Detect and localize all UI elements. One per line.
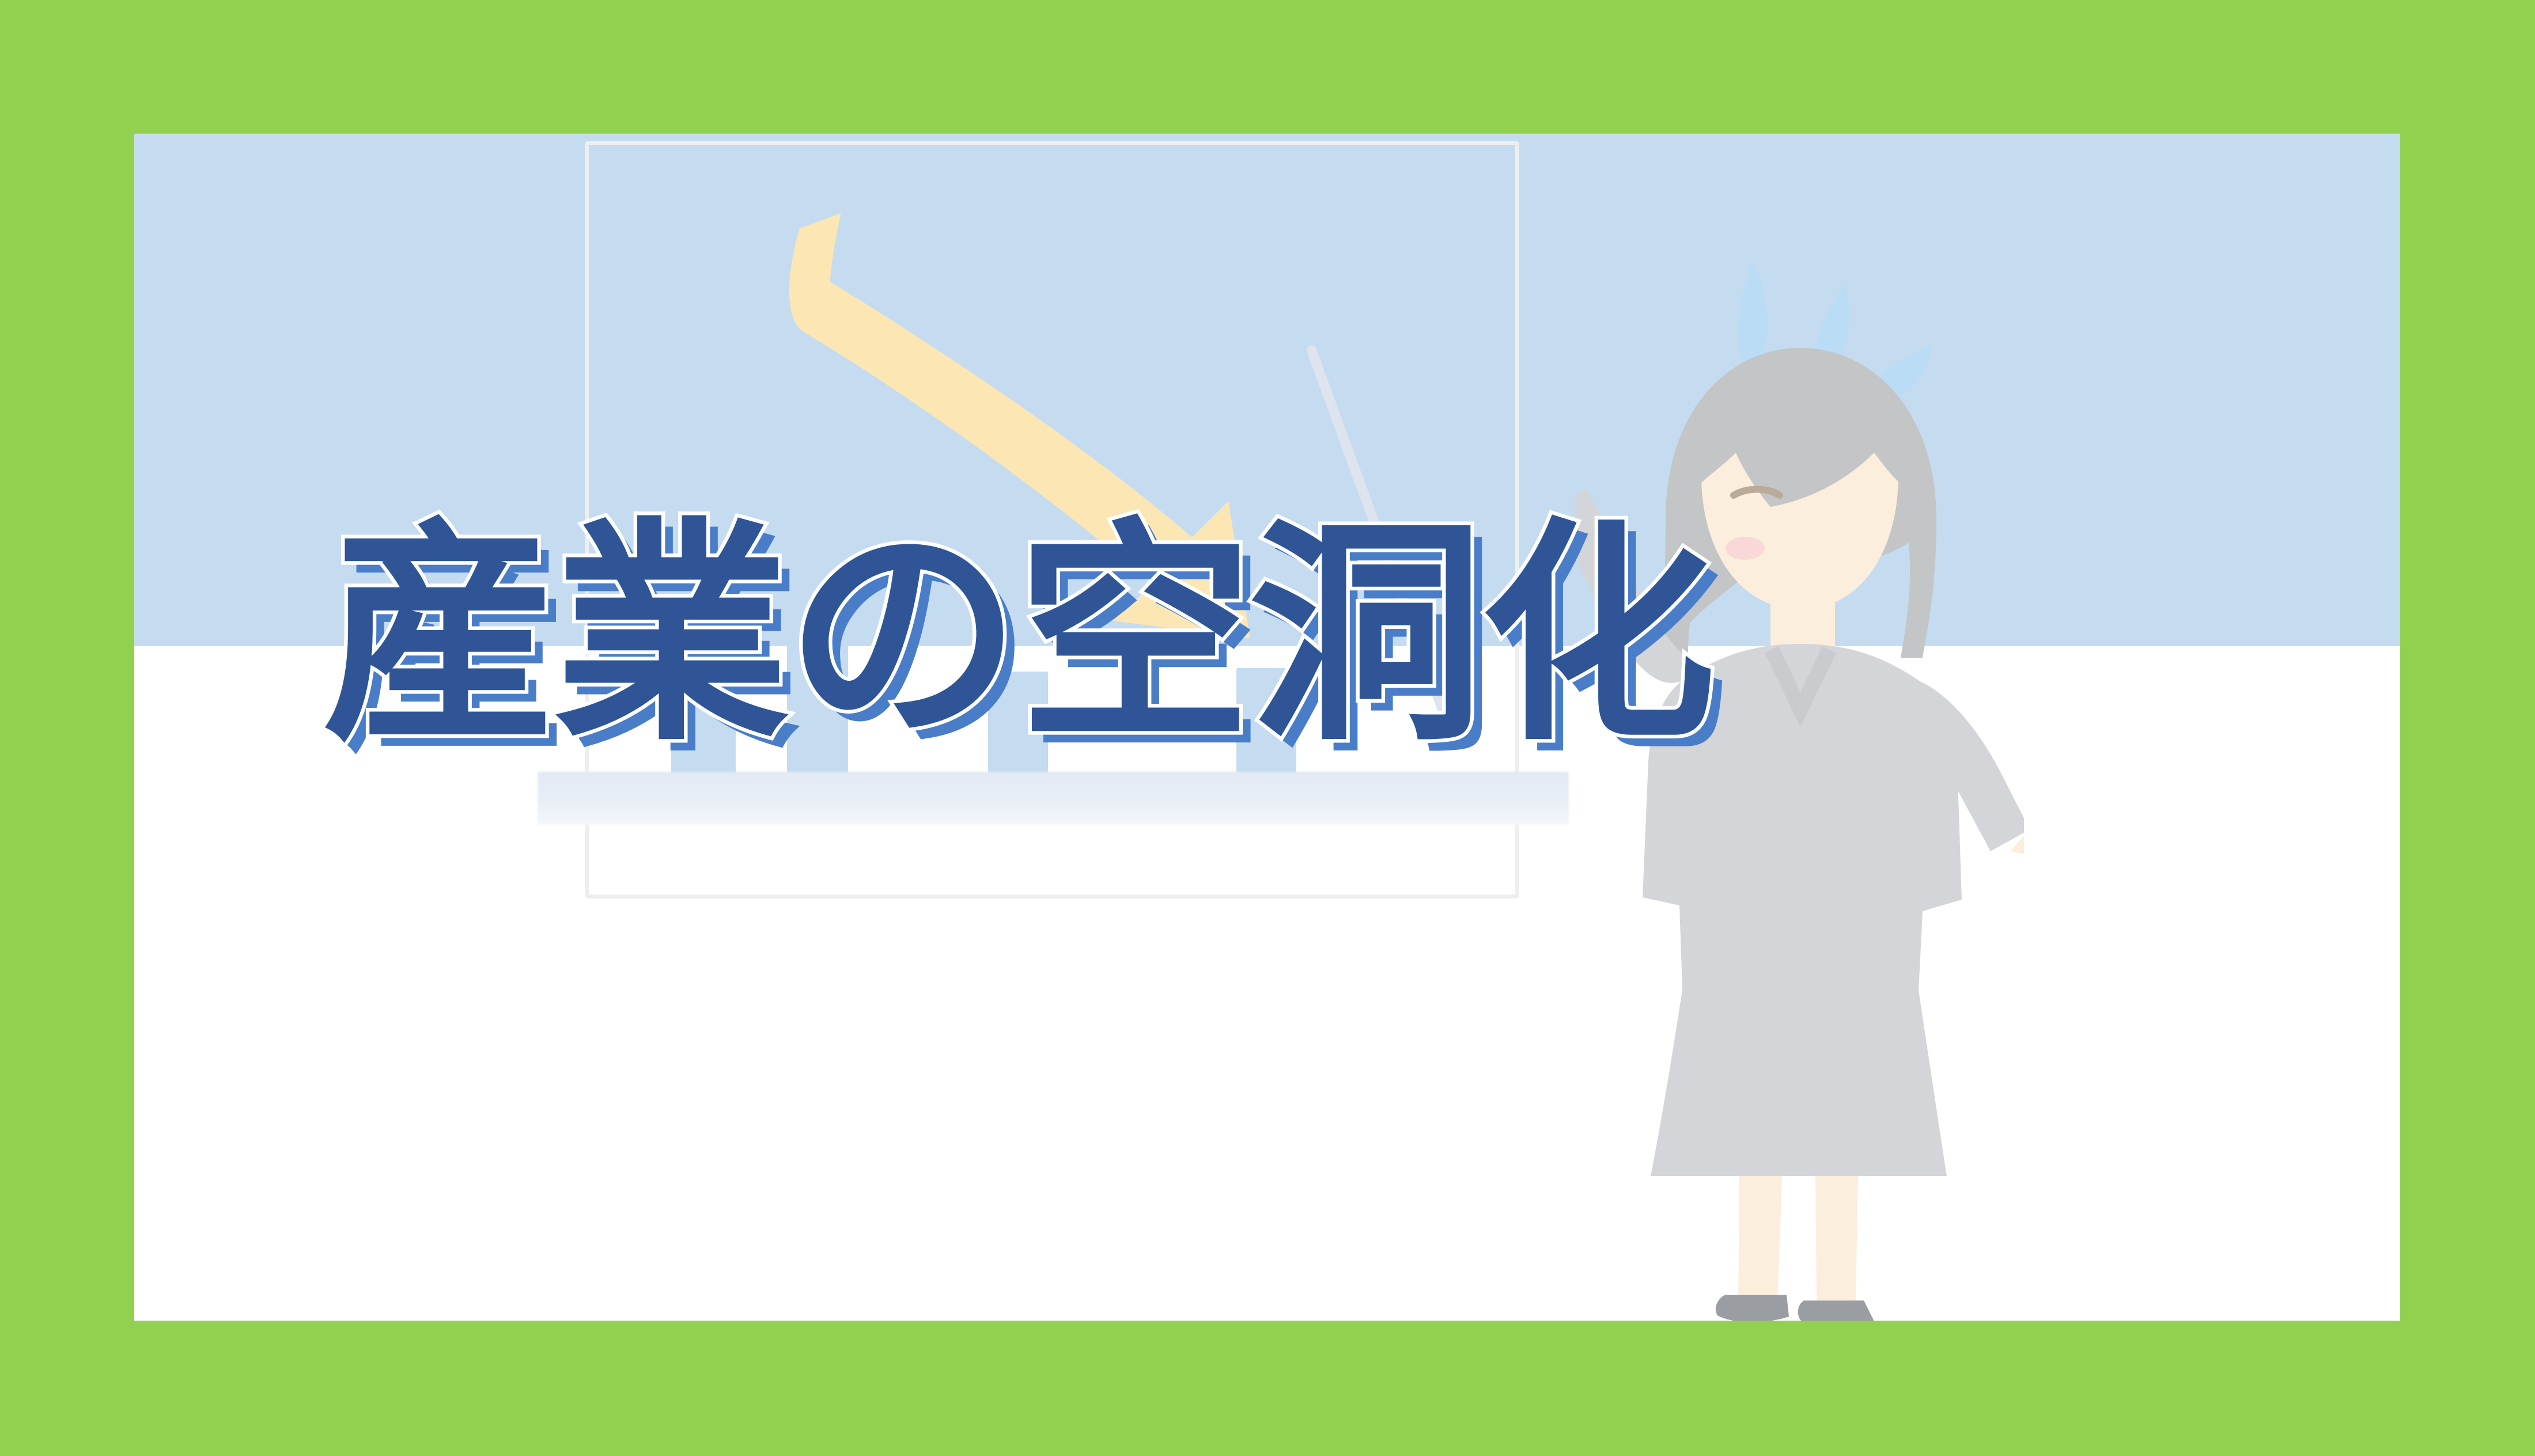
left-shoe — [1716, 1295, 1789, 1321]
slide-root: 産業の空洞化 産業の空洞化 産業の空洞化 — [0, 0, 2535, 1456]
skirt — [1651, 986, 1947, 1176]
right-leg — [1815, 1176, 1858, 1303]
left-leg — [1738, 1176, 1782, 1303]
right-shoe — [1798, 1300, 1874, 1321]
page-title: 産業の空洞化 — [323, 518, 2281, 753]
whiteboard-ledge — [538, 772, 1569, 825]
